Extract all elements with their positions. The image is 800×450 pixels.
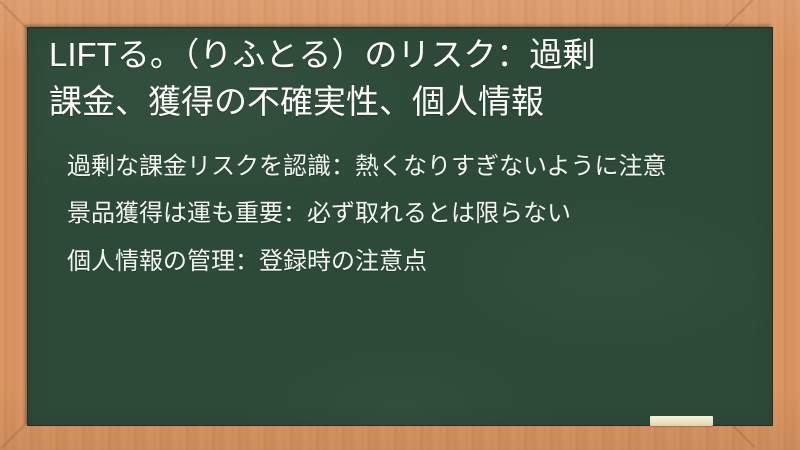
slide-title: LIFTる。（りふとる）のリスク：過剰 課金、獲得の不確実性、個人情報	[49, 31, 733, 125]
board-content: LIFTる。（りふとる）のリスク：過剰 課金、獲得の不確実性、個人情報 過剰な課…	[27, 27, 773, 426]
chalk-stick-icon	[650, 416, 713, 426]
slide-title-line-2: 課金、獲得の不確実性、個人情報	[49, 83, 544, 120]
chalkboard-slide: LIFTる。（りふとる）のリスク：過剰 課金、獲得の不確実性、個人情報 過剰な課…	[0, 0, 800, 450]
bullet-list: 過剰な課金リスクを認識：熱くなりすぎないように注意 景品獲得は運も重要：必ず取れ…	[49, 149, 749, 291]
bullet-item: 過剰な課金リスクを認識：熱くなりすぎないように注意	[49, 149, 749, 185]
bullet-item: 景品獲得は運も重要：必ず取れるとは限らない	[49, 196, 749, 232]
bullet-item: 個人情報の管理：登録時の注意点	[49, 244, 749, 280]
slide-title-line-1: LIFTる。（りふとる）のリスク：過剰	[49, 36, 595, 73]
chalkboard-surface: LIFTる。（りふとる）のリスク：過剰 課金、獲得の不確実性、個人情報 過剰な課…	[27, 27, 773, 426]
